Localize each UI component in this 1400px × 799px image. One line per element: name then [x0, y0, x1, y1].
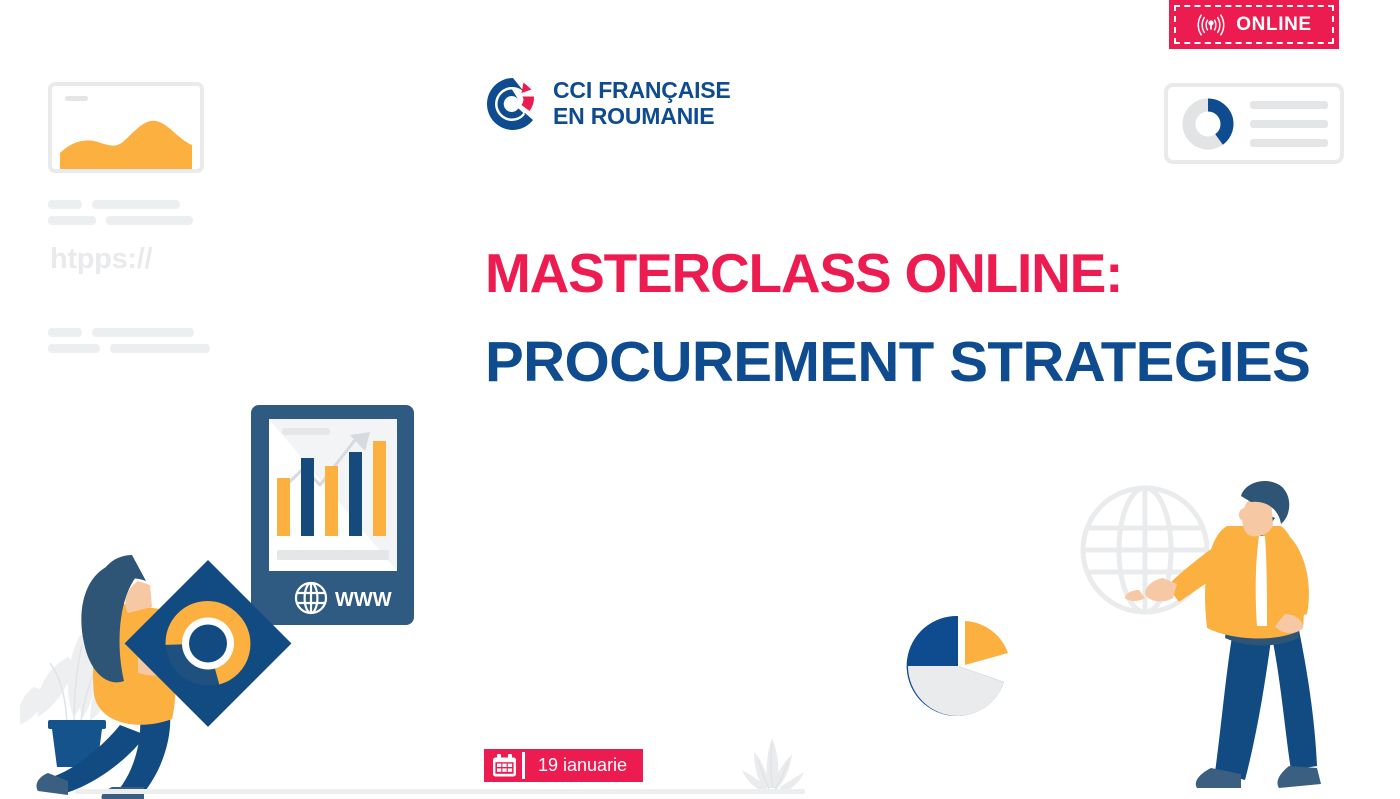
man-pointing-at-globe-illustration — [1075, 480, 1395, 799]
right-donut-widget — [1164, 83, 1344, 164]
cci-logo: CCI FRANÇAISE EN ROUMANIE — [485, 76, 731, 132]
donut-chart-icon — [1182, 98, 1234, 150]
date-badge: 19 ianuarie — [484, 749, 643, 782]
online-badge-label: ONLINE — [1236, 14, 1311, 36]
skeleton-bar — [48, 344, 100, 353]
skeleton-row — [48, 344, 210, 353]
ground-line — [75, 789, 805, 794]
pie-chart-illustration — [905, 610, 1015, 722]
online-badge: ONLINE — [1169, 0, 1339, 49]
date-badge-label: 19 ianuarie — [538, 755, 627, 776]
skeleton-bar — [110, 344, 210, 353]
cci-logo-line1: CCI FRANÇAISE — [553, 77, 731, 103]
cci-logo-line2: EN ROUMANIE — [553, 104, 731, 130]
skeleton-bar — [106, 216, 193, 225]
skeleton-row — [48, 216, 193, 225]
skeleton-bar — [48, 216, 96, 225]
widget-text-placeholders — [1250, 101, 1328, 147]
skeleton-bar — [1250, 139, 1328, 147]
skeleton-bar — [1250, 120, 1328, 128]
area-chart-icon — [52, 111, 200, 169]
dashboard-panel: WWW — [251, 405, 414, 625]
woman-with-dashboard-illustration: WWW — [20, 395, 440, 799]
skeleton-row — [48, 200, 193, 209]
broadcast-icon — [1196, 14, 1226, 36]
url-placeholder-text: htpps:// — [50, 243, 152, 276]
skeleton-bar — [1250, 101, 1328, 109]
skeleton-bar — [92, 200, 180, 209]
calendar-icon-box — [484, 749, 525, 782]
skeleton-lines-lower — [48, 328, 210, 360]
skeleton-lines-upper — [48, 200, 193, 232]
panel-www-label: WWW — [335, 589, 392, 611]
poster-canvas: ONLINE CCI FRANÇAISE EN ROUMANIE MASTERC… — [0, 0, 1400, 799]
cci-logo-text: CCI FRANÇAISE EN ROUMANIE — [553, 78, 731, 130]
skeleton-bar — [92, 328, 194, 337]
widget-title-placeholder — [65, 96, 88, 101]
title-line-2: PROCUREMENT STRATEGIES — [485, 334, 1301, 391]
left-area-chart-widget — [48, 82, 204, 173]
skeleton-bar — [48, 200, 82, 209]
title-line-1: MASTERCLASS ONLINE: — [485, 246, 1285, 301]
skeleton-bar — [48, 328, 82, 337]
calendar-icon — [492, 754, 517, 777]
title-block: MASTERCLASS ONLINE: PROCUREMENT STRATEGI… — [485, 246, 1285, 391]
skeleton-row — [48, 328, 210, 337]
cci-c-logo-icon — [485, 76, 541, 132]
